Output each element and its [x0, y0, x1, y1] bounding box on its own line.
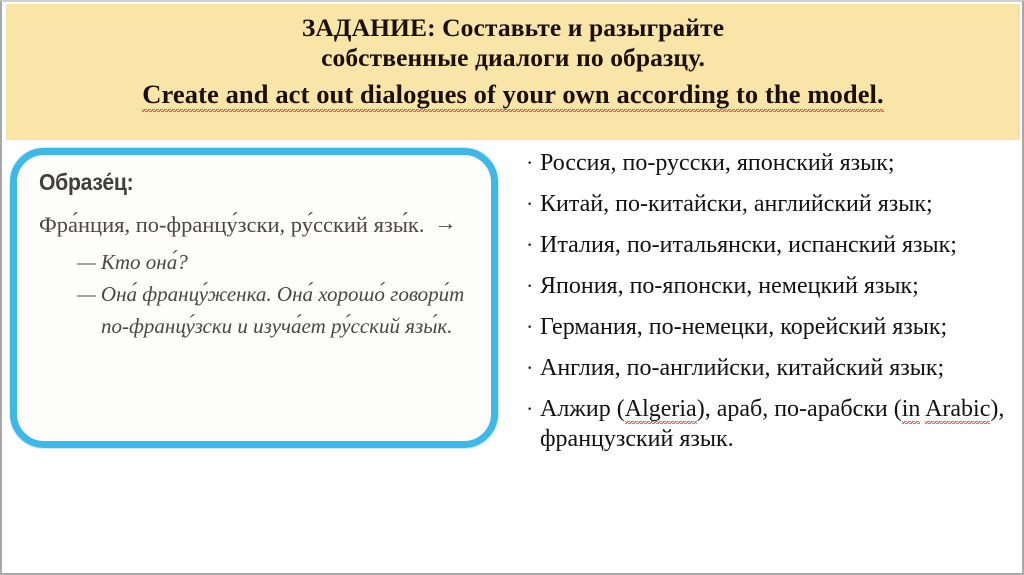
list-item: · Англия, по-английски, китайский язык; [522, 353, 1018, 383]
list-item: · Италия, по-итальянски, испанский язык; [522, 230, 1018, 260]
sample-dialogue-box: Образе́ц: Фра́нция, по-францу́зски, ру́с… [10, 148, 498, 448]
bullet-icon: · [522, 271, 540, 301]
list-item-label: Япония, по-японски, немецкий язык; [540, 271, 919, 301]
bullet-icon: · [522, 394, 540, 424]
list-item: · Япония, по-японски, немецкий язык; [522, 271, 1018, 301]
sample-dialogue-line-3: по-францу́зски и изуча́ет ру́сский язы́к… [101, 310, 473, 342]
task-list: ·Россия, по-русски, японский язык;·Китай… [522, 148, 1018, 465]
list-item-label: Китай, по-китайски, английский язык; [540, 189, 933, 219]
sample-box-content: Образе́ц: Фра́нция, по-францу́зски, ру́с… [17, 155, 491, 441]
slide-page: ЗАДАНИЕ: Составьте и разыграйте собствен… [0, 0, 1024, 575]
list-item: ·Китай, по-китайски, английский язык; [522, 189, 1018, 219]
sample-dialogue-line-2: — Она́ францу́женка. Она́ хорошо́ говори… [77, 278, 473, 310]
header-title-line-3: Create and act out dialogues of your own… [6, 73, 1020, 111]
list-item-label: Италия, по-итальянски, испанский язык; [540, 230, 957, 260]
right-arrow-icon: → [435, 210, 457, 236]
list-item-label: Германия, по-немецки, корейский язык; [540, 312, 947, 342]
header-title-line-2: собственные диалоги по образцу. [6, 43, 1020, 73]
header-banner: ЗАДАНИЕ: Составьте и разыграйте собствен… [6, 4, 1020, 140]
list-item-label: Англия, по-английски, китайский язык; [540, 353, 944, 383]
sample-dialogue-line-1: — Кто она́? [77, 246, 473, 278]
bullet-icon: · [522, 312, 540, 342]
list-item-text-segment: ), араб, по-арабски ( [697, 396, 902, 422]
list-item-text-segment: Алжир ( [540, 396, 625, 422]
misspelled-word: Arabic [925, 396, 990, 424]
bullet-icon: · [522, 189, 540, 219]
list-item: ·Алжир (Algeria), араб, по-арабски (in A… [522, 394, 1018, 454]
misspelled-word: Algeria [625, 396, 697, 424]
bullet-icon: · [522, 353, 540, 383]
sample-prompt-text: Фра́нция, по-францу́зски, ру́сский язы́к… [39, 212, 425, 237]
header-title-line-1: ЗАДАНИЕ: Составьте и разыграйте [6, 8, 1020, 43]
list-item-label: Алжир (Algeria), араб, по-арабски (in Ar… [540, 394, 1018, 454]
bullet-icon: · [522, 230, 540, 260]
sample-label: Образе́ц: [39, 169, 438, 196]
header-title-line-3-text: Create and act out dialogues of your own… [142, 79, 884, 112]
list-item: ·Россия, по-русски, японский язык; [522, 148, 1018, 178]
misspelled-word: in [902, 396, 921, 424]
list-item: ·Германия, по-немецки, корейский язык; [522, 312, 1018, 342]
list-item-label: Россия, по-русски, японский язык; [540, 148, 895, 178]
bullet-icon: · [522, 148, 540, 178]
sample-prompt-line: Фра́нция, по-францу́зски, ру́сский язы́к… [39, 210, 473, 238]
